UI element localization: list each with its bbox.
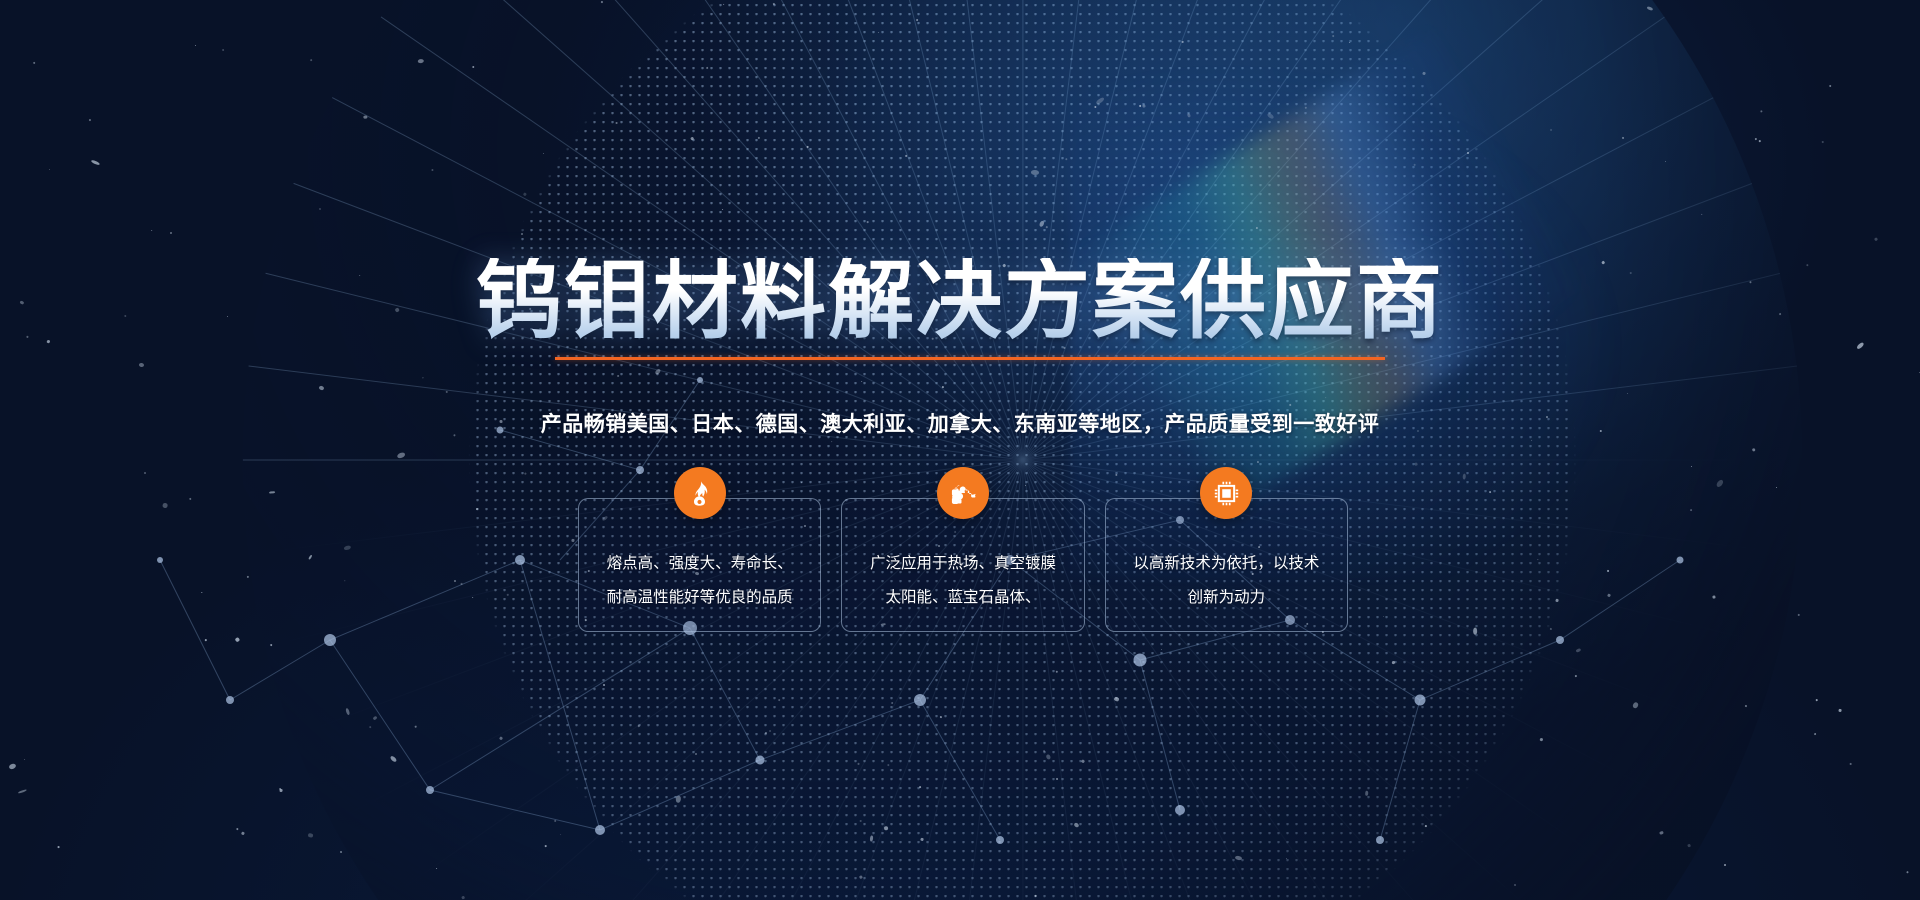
feature-card[interactable]: 熔点高、强度大、寿命长、 耐高温性能好等优良的品质 xyxy=(578,498,821,632)
feature-card-line2: 耐高温性能好等优良的品质 xyxy=(587,581,812,615)
feature-card-line1: 以高新技术为依托，以技术 xyxy=(1114,547,1339,581)
hero-banner: 钨钼材料解决方案供应商 产品畅销美国、日本、德国、澳大利亚、加拿大、东南亚等地区… xyxy=(0,0,1920,900)
flame-icon xyxy=(674,467,726,519)
feature-card-text: 以高新技术为依托，以技术 创新为动力 xyxy=(1114,547,1339,615)
feature-card-text: 广泛应用于热场、真空镀膜 太阳能、蓝宝石晶体、 xyxy=(850,547,1075,615)
feature-card-line2: 太阳能、蓝宝石晶体、 xyxy=(850,581,1075,615)
feature-card-text: 熔点高、强度大、寿命长、 耐高温性能好等优良的品质 xyxy=(587,547,812,615)
feature-card-list: 熔点高、强度大、寿命长、 耐高温性能好等优良的品质 广泛应用于热场、真空镀膜 太… xyxy=(578,498,1348,632)
feature-card[interactable]: 以高新技术为依托，以技术 创新为动力 xyxy=(1105,498,1348,632)
title-underline-rule xyxy=(555,357,1385,360)
page-subtitle: 产品畅销美国、日本、德国、澳大利亚、加拿大、东南亚等地区，产品质量受到一致好评 xyxy=(0,408,1920,438)
puzzle-piece-icon xyxy=(937,467,989,519)
page-title: 钨钼材料解决方案供应商 xyxy=(0,258,1920,344)
feature-card-line2: 创新为动力 xyxy=(1114,581,1339,615)
cpu-chip-icon xyxy=(1200,467,1252,519)
feature-card-line1: 熔点高、强度大、寿命长、 xyxy=(587,547,812,581)
feature-card-line1: 广泛应用于热场、真空镀膜 xyxy=(850,547,1075,581)
feature-card[interactable]: 广泛应用于热场、真空镀膜 太阳能、蓝宝石晶体、 xyxy=(841,498,1084,632)
